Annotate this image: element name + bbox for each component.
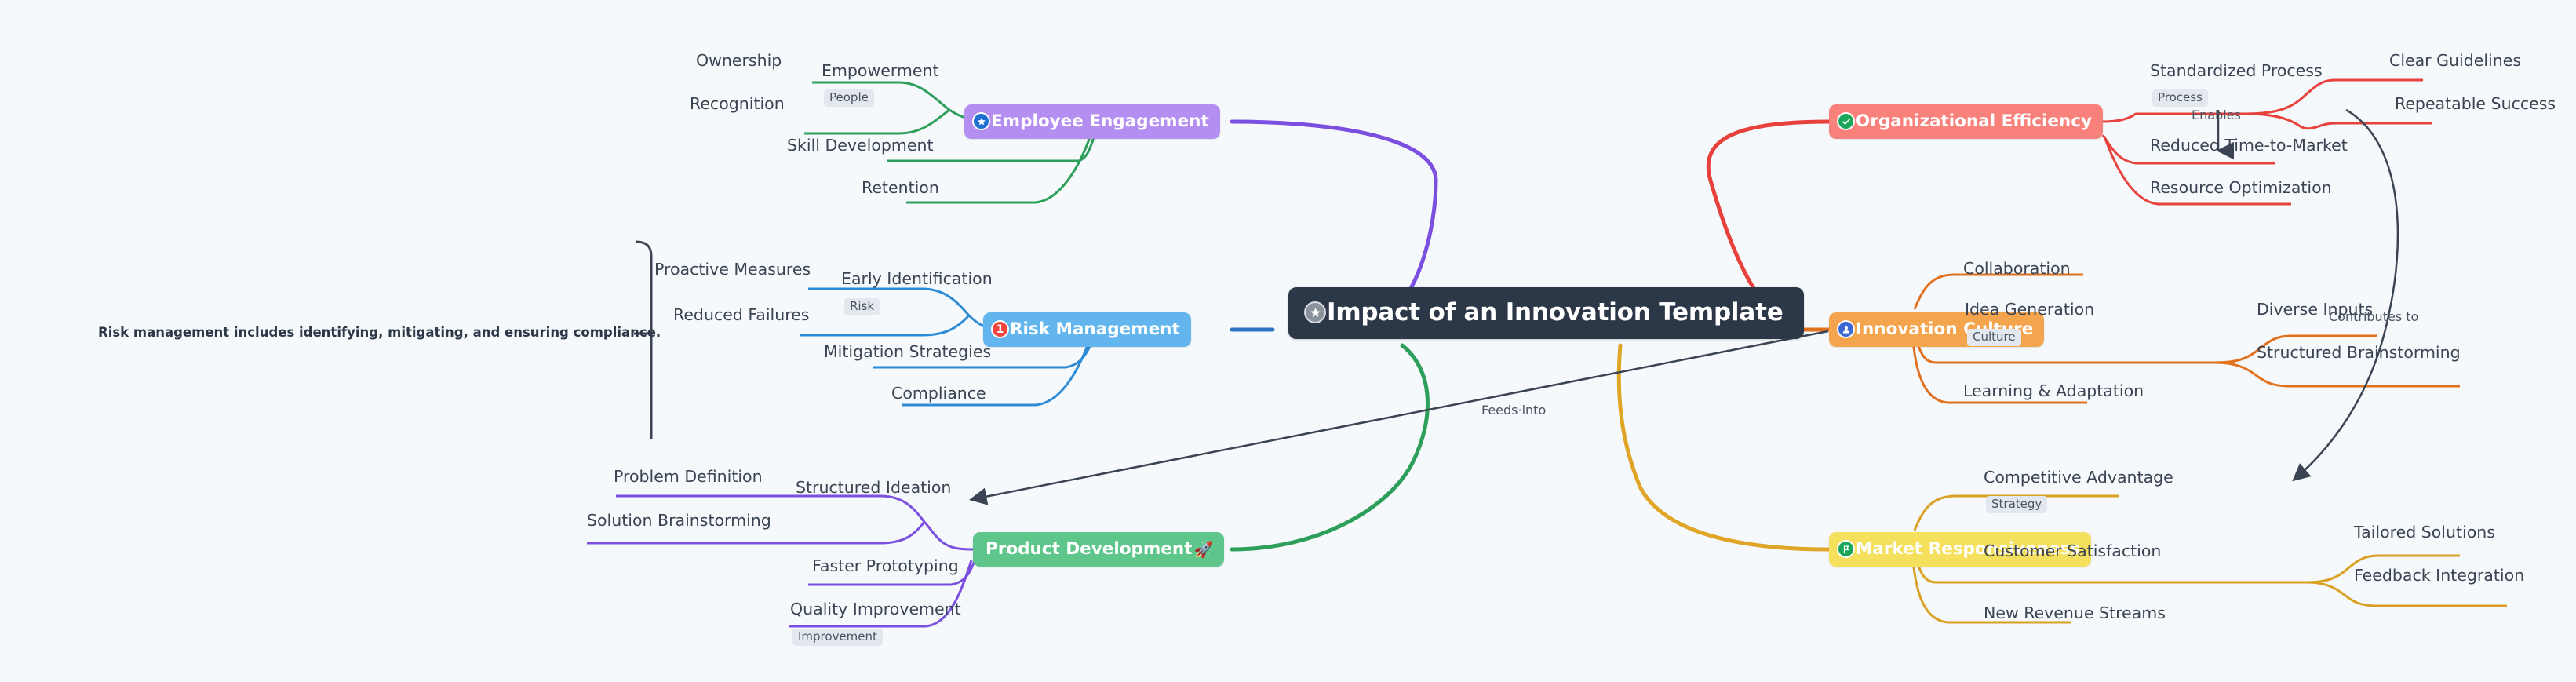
relation-label-feeds-into: Feeds·into <box>1481 404 1546 417</box>
leaf-customer-satisfaction[interactable]: Customer Satisfaction <box>1984 542 2161 560</box>
leaf-problem-definition[interactable]: Problem Definition <box>614 468 763 486</box>
chip-strategy: Strategy <box>1986 496 2047 513</box>
leaf-clear-guidelines[interactable]: Clear Guidelines <box>2389 52 2521 70</box>
leaf-mitigation-strategies[interactable]: Mitigation Strategies <box>824 343 991 361</box>
check-circle-icon <box>1837 112 1855 130</box>
mindmap-canvas: Impact of an Innovation Template Employe… <box>0 0 2576 682</box>
chip-process: Process <box>2152 89 2208 107</box>
leaf-faster-prototyping[interactable]: Faster Prototyping <box>812 557 959 575</box>
chip-risk: Risk <box>844 298 880 315</box>
leaf-empowerment[interactable]: Empowerment <box>822 62 939 80</box>
number-badge-icon: 1 <box>991 320 1009 338</box>
leaf-structured-ideation[interactable]: Structured Ideation <box>796 479 951 497</box>
branch-node-employee-engagement[interactable]: Employee Engagement <box>964 104 1220 139</box>
branch-label: Organizational Efficiency <box>1856 111 2092 131</box>
branch-label: Risk Management <box>1010 319 1180 339</box>
branch-node-product-development[interactable]: Product Development 🚀 <box>973 532 1224 567</box>
root-node[interactable]: Impact of an Innovation Template <box>1288 287 1804 339</box>
leaf-idea-generation[interactable]: Idea Generation <box>1965 301 2094 319</box>
branch-label: Product Development <box>986 539 1192 559</box>
leaf-quality-improvement[interactable]: Quality Improvement <box>790 600 961 618</box>
leaf-tailored-solutions[interactable]: Tailored Solutions <box>2354 523 2495 542</box>
star-circle-icon <box>972 112 990 130</box>
leaf-ownership[interactable]: Ownership <box>696 52 782 70</box>
leaf-learning-adaptation[interactable]: Learning & Adaptation <box>1963 382 2144 400</box>
star-circle-icon <box>1304 301 1326 323</box>
leaf-collaboration[interactable]: Collaboration <box>1963 260 2071 278</box>
chip-improvement: Improvement <box>792 629 883 646</box>
leaf-proactive-measures[interactable]: Proactive Measures <box>654 261 811 279</box>
flag-circle-icon <box>1837 540 1855 558</box>
number-badge-text: 1 <box>997 323 1004 336</box>
leaf-skill-development[interactable]: Skill Development <box>787 137 934 155</box>
branch-label: Employee Engagement <box>991 111 1209 131</box>
leaf-competitive-advantage[interactable]: Competitive Advantage <box>1984 469 2173 487</box>
chip-culture: Culture <box>1967 329 2021 346</box>
leaf-standardized-process[interactable]: Standardized Process <box>2150 62 2323 80</box>
leaf-early-identification[interactable]: Early Identification <box>841 270 993 288</box>
leaf-feedback-integration[interactable]: Feedback Integration <box>2354 567 2524 585</box>
risk-management-note: Risk management includes identifying, mi… <box>98 325 661 340</box>
leaf-structured-brainstorming[interactable]: Structured Brainstorming <box>2257 344 2461 362</box>
leaf-solution-brainstorming[interactable]: Solution Brainstorming <box>587 512 771 530</box>
branch-node-risk-management[interactable]: 1 Risk Management <box>983 312 1191 347</box>
leaf-reduced-time-to-market[interactable]: Reduced Time-to-Market <box>2150 137 2348 155</box>
leaf-new-revenue-streams[interactable]: New Revenue Streams <box>1984 604 2166 622</box>
leaf-recognition[interactable]: Recognition <box>690 95 785 113</box>
leaf-compliance[interactable]: Compliance <box>891 385 986 403</box>
person-circle-icon <box>1837 320 1855 338</box>
chip-people: People <box>824 89 874 107</box>
leaf-repeatable-success[interactable]: Repeatable Success <box>2395 95 2556 113</box>
relation-label-enables: Enables <box>2192 109 2241 122</box>
leaf-resource-optimization[interactable]: Resource Optimization <box>2150 179 2332 197</box>
relation-label-contributes-to: Contributes to <box>2329 311 2418 323</box>
root-label: Impact of an Innovation Template <box>1327 298 1784 326</box>
leaf-retention[interactable]: Retention <box>862 179 939 197</box>
branch-node-organizational-efficiency[interactable]: Organizational Efficiency <box>1829 104 2103 139</box>
leaf-reduced-failures[interactable]: Reduced Failures <box>673 306 809 324</box>
rocket-emoji: 🚀 <box>1193 540 1213 559</box>
